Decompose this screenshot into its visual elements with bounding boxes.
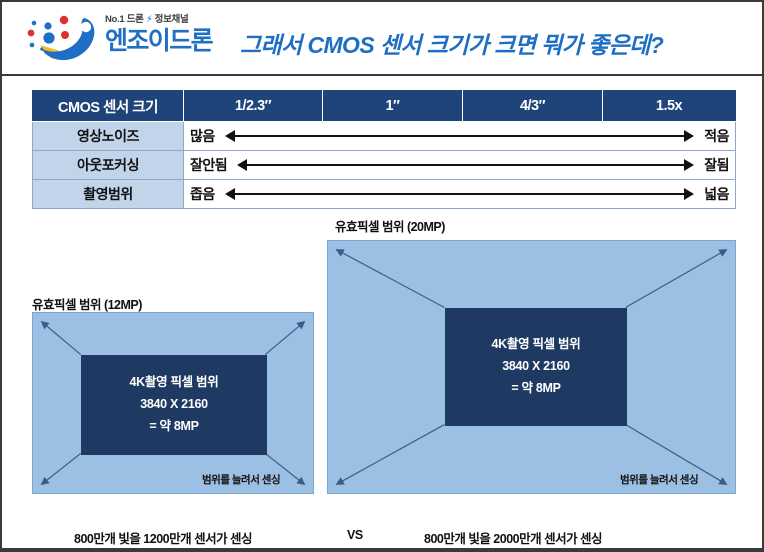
4k-resolution-line2-left: 3840 X 2160 bbox=[140, 394, 208, 416]
caption-vs: VS bbox=[347, 528, 363, 542]
effective-pixel-panel-20mp: 4K촬영 픽셀 범위 3840 X 2160 = 약 8MP bbox=[327, 240, 736, 494]
table-header-cell-size-1: 1/2.3″ bbox=[184, 91, 323, 122]
sensing-note-20mp: 범위를 늘려서 센싱 bbox=[620, 472, 698, 487]
bolt-icon: ⚡ bbox=[146, 14, 152, 25]
table-row: 촬영범위 좁음 넓음 bbox=[33, 180, 736, 209]
fov-double-arrow-icon bbox=[225, 181, 694, 207]
table-header-cell-attribute: CMOS 센서 크기 bbox=[33, 91, 184, 122]
bokeh-left-value: 잘안됨 bbox=[190, 155, 227, 175]
bokeh-right-value: 잘됨 bbox=[704, 155, 729, 175]
4k-pixel-area-box-20mp: 4K촬영 픽셀 범위 3840 X 2160 = 약 8MP bbox=[445, 308, 627, 426]
noise-left-value: 많음 bbox=[190, 126, 215, 146]
header-divider bbox=[2, 74, 762, 76]
sensing-note-12mp: 범위를 늘려서 센싱 bbox=[202, 472, 280, 487]
table-header-cell-size-2: 1″ bbox=[323, 91, 463, 122]
arrow-head-left-icon bbox=[237, 159, 247, 171]
panel-label-12mp: 유효픽셀 범위 (12MP) bbox=[32, 294, 142, 313]
table-row-label-noise: 영상노이즈 bbox=[33, 122, 184, 151]
logo-tagline-prefix: No.1 드론 bbox=[105, 14, 144, 25]
noise-double-arrow-icon bbox=[225, 123, 694, 149]
4k-resolution-line2-right: 3840 X 2160 bbox=[502, 356, 570, 378]
logo-wordmark: No.1 드론 ⚡ 정보채널 엔조이드론 bbox=[105, 14, 225, 64]
fov-left-value: 좁음 bbox=[190, 184, 215, 204]
arrow-head-left-icon bbox=[225, 130, 235, 142]
4k-label-line1-right: 4K촬영 픽셀 범위 bbox=[492, 334, 581, 356]
enjoydrone-logo-icon bbox=[18, 14, 100, 64]
table-cell-fov-scale: 좁음 넓음 bbox=[184, 180, 736, 209]
noise-right-value: 적음 bbox=[704, 126, 729, 146]
4k-megapixel-line3-right: = 약 8MP bbox=[511, 378, 560, 400]
footer-divider bbox=[2, 548, 762, 550]
table-header-cell-size-4: 1.5x bbox=[603, 91, 736, 122]
table-row-label-fov: 촬영범위 bbox=[33, 180, 184, 209]
logo-tagline-suffix: 정보채널 bbox=[155, 14, 189, 25]
caption-12mp: 800만개 빛을 1200만개 센서가 센싱 bbox=[74, 528, 252, 547]
table-header-row: CMOS 센서 크기 1/2.3″ 1″ 4/3″ 1.5x bbox=[33, 91, 736, 122]
bokeh-double-arrow-icon bbox=[237, 152, 694, 178]
sensor-size-comparison-table: CMOS 센서 크기 1/2.3″ 1″ 4/3″ 1.5x 영상노이즈 많음 … bbox=[32, 90, 736, 209]
table-row: 아웃포커싱 잘안됨 잘됨 bbox=[33, 151, 736, 180]
4k-label-line1-left: 4K촬영 픽셀 범위 bbox=[130, 372, 219, 394]
caption-20mp: 800만개 빛을 2000만개 센서가 센싱 bbox=[424, 528, 602, 547]
logo-tagline: No.1 드론 ⚡ 정보채널 bbox=[105, 14, 225, 26]
table-row-label-bokeh: 아웃포커싱 bbox=[33, 151, 184, 180]
table-row: 영상노이즈 많음 적음 bbox=[33, 122, 736, 151]
4k-pixel-area-box-12mp: 4K촬영 픽셀 범위 3840 X 2160 = 약 8MP bbox=[81, 355, 267, 455]
table-cell-bokeh-scale: 잘안됨 잘됨 bbox=[184, 151, 736, 180]
4k-megapixel-line3-left: = 약 8MP bbox=[149, 416, 198, 438]
page-title: 그래서 CMOS 센서 크기가 크면 뭐가 좋은데? bbox=[240, 26, 663, 60]
fov-right-value: 넓음 bbox=[704, 184, 729, 204]
arrow-head-left-icon bbox=[225, 188, 235, 200]
slide-header: No.1 드론 ⚡ 정보채널 엔조이드론 그래서 CMOS 센서 크기가 크면 … bbox=[2, 2, 762, 74]
effective-pixel-panel-12mp: 4K촬영 픽셀 범위 3840 X 2160 = 약 8MP bbox=[32, 312, 314, 494]
logo-brand-name: 엔조이드론 bbox=[105, 27, 225, 55]
table-header-cell-size-3: 4/3″ bbox=[463, 91, 603, 122]
slide-canvas: No.1 드론 ⚡ 정보채널 엔조이드론 그래서 CMOS 센서 크기가 크면 … bbox=[0, 0, 764, 552]
table-cell-noise-scale: 많음 적음 bbox=[184, 122, 736, 151]
panel-label-20mp: 유효픽셀 범위 (20MP) bbox=[335, 216, 445, 235]
